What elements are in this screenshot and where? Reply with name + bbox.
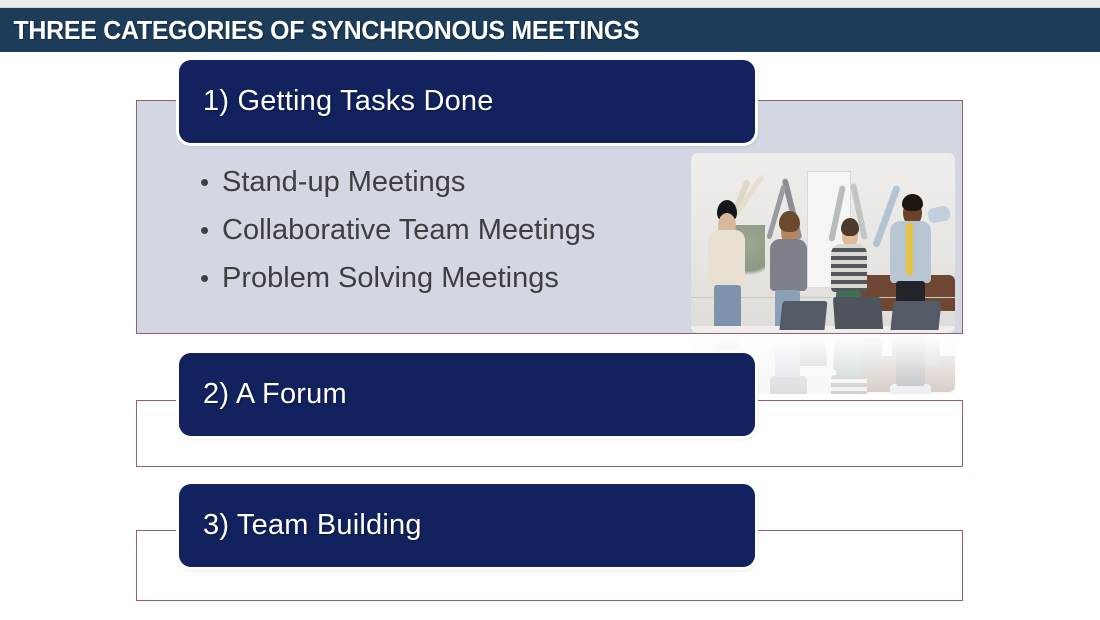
- bullet-text: Problem Solving Meetings: [222, 262, 559, 294]
- person-4-yellow-tie: [906, 223, 913, 275]
- list-item: •Stand-up Meetings: [200, 158, 595, 206]
- list-item: •Collaborative Team Meetings: [200, 206, 595, 254]
- photo-content: [691, 153, 955, 333]
- section-header-team-building[interactable]: 3) Team Building: [179, 484, 755, 567]
- person-4-hair: [902, 194, 923, 212]
- office-scene-illustration: [691, 153, 955, 333]
- section-header-getting-tasks-done[interactable]: 1) Getting Tasks Done: [179, 60, 755, 143]
- section-1-bullet-list: •Stand-up Meetings •Collaborative Team M…: [200, 158, 595, 302]
- person-1: [702, 175, 771, 333]
- section-header-a-forum[interactable]: 2) A Forum: [179, 353, 755, 436]
- laptop-2: [832, 297, 882, 329]
- person-3-striped-sweater: [831, 244, 868, 292]
- section-header-label: 3) Team Building: [179, 509, 422, 542]
- team-celebrating-photo: [691, 153, 955, 333]
- bullet-dot-icon: •: [200, 158, 222, 206]
- person-1-torso: [708, 230, 745, 287]
- slide-title-bar: THREE CATEGORIES OF SYNCHRONOUS MEETINGS: [0, 8, 1100, 52]
- person-4-arm-left: [927, 204, 952, 223]
- page-title: THREE CATEGORIES OF SYNCHRONOUS MEETINGS: [0, 15, 639, 46]
- laptop-3: [890, 301, 941, 330]
- bullet-text: Collaborative Team Meetings: [222, 214, 595, 246]
- bullet-dot-icon: •: [200, 206, 222, 254]
- bullet-dot-icon: •: [200, 254, 222, 302]
- person-2-hair: [779, 211, 799, 233]
- laptop-1: [779, 301, 827, 330]
- presentation-slide: THREE CATEGORIES OF SYNCHRONOUS MEETINGS…: [0, 0, 1100, 620]
- person-3-hair: [841, 218, 859, 236]
- person-2-torso: [770, 239, 807, 292]
- section-header-label: 1) Getting Tasks Done: [179, 85, 494, 118]
- list-item: •Problem Solving Meetings: [200, 254, 595, 302]
- section-header-label: 2) A Forum: [179, 378, 347, 411]
- bullet-text: Stand-up Meetings: [222, 166, 465, 198]
